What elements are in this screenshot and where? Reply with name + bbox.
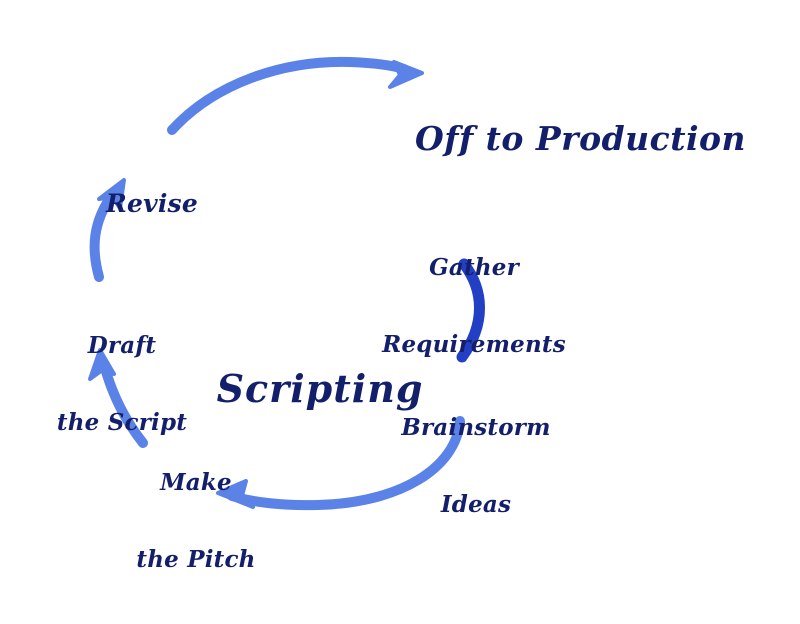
node-make-the-pitch-line-1: Make <box>116 470 276 496</box>
node-draft-the-script-line-1: Draft <box>46 333 198 359</box>
node-make-the-pitch: Make the Pitch <box>116 418 276 624</box>
node-brainstorm-ideas-line-1: Brainstorm <box>378 415 574 441</box>
node-brainstorm-ideas: Brainstorm Ideas <box>378 363 574 569</box>
scripting-cycle-diagram: Scripting Off to Production Revise Draft… <box>0 0 800 566</box>
node-revise-line-1: Revise <box>72 190 232 218</box>
node-off-to-production-line-1: Off to Production <box>415 121 790 158</box>
node-make-the-pitch-line-2: the Pitch <box>116 547 276 573</box>
node-revise: Revise <box>72 134 232 274</box>
connector-revise-to-production <box>172 62 422 130</box>
node-gather-requirements-line-1: Gather <box>374 255 574 281</box>
node-gather-requirements-line-2: Requirements <box>374 332 574 358</box>
node-brainstorm-ideas-line-2: Ideas <box>378 492 574 518</box>
